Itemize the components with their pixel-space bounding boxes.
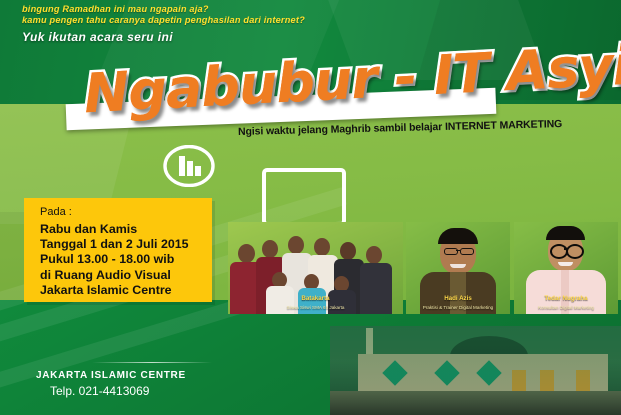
event-details-label: Pada : xyxy=(40,206,72,218)
mosque-photo xyxy=(330,326,621,415)
mosque-tint-overlay xyxy=(330,326,621,415)
event-detail-time: Pukul 13.00 - 18.00 wib xyxy=(40,252,189,267)
photo-caption-name: Hadi Azis xyxy=(406,295,510,302)
event-detail-day: Rabu dan Kamis xyxy=(40,222,189,237)
event-details-box: Pada : Rabu dan Kamis Tanggal 1 dan 2 Ju… xyxy=(24,198,212,302)
footer-organizer: JAKARTA ISLAMIC CENTRE xyxy=(36,370,186,381)
group-photo: Batakarta Siswa Siswi SMA 65 Jakarta xyxy=(228,222,403,314)
headline-line-2: kamu pengen tahu caranya dapetin penghas… xyxy=(22,15,442,26)
headline-question: bingung Ramadhan ini mau ngapain aja? ka… xyxy=(22,4,442,27)
event-details-list: Rabu dan Kamis Tanggal 1 dan 2 Juli 2015… xyxy=(40,222,189,298)
photo-caption-role: Praktisi & Trainer Digital Marketing xyxy=(406,305,510,310)
photo-caption-name: Tedar Nugraha xyxy=(514,295,618,302)
headline-line-1: bingung Ramadhan ini mau ngapain aja? xyxy=(22,4,442,15)
photo-caption-name: Batakarta xyxy=(228,295,403,302)
event-detail-date: Tanggal 1 dan 2 Juli 2015 xyxy=(40,237,189,252)
footer-divider xyxy=(92,362,212,363)
speakers-photo-strip: Batakarta Siswa Siswi SMA 65 Jakarta Had… xyxy=(228,222,621,314)
event-detail-room: di Ruang Audio Visual xyxy=(40,268,189,283)
call-to-action-text: Yuk ikutan acara seru ini xyxy=(22,30,173,44)
bar-chart-circle-icon xyxy=(163,145,215,187)
photo-caption-role: Konsultan Digital Marketing xyxy=(514,305,618,310)
photo-caption-role: Siswa Siswi SMA 65 Jakarta xyxy=(228,305,403,310)
footer-phone: Telp. 021-4413069 xyxy=(50,384,149,398)
portrait-photo-tedar: Tedar Nugraha Konsultan Digital Marketin… xyxy=(514,222,618,314)
event-poster: bingung Ramadhan ini mau ngapain aja? ka… xyxy=(0,0,621,415)
portrait-photo-hadi: Hadi Azis Praktisi & Trainer Digital Mar… xyxy=(406,222,510,314)
event-detail-venue: Jakarta Islamic Centre xyxy=(40,283,189,298)
